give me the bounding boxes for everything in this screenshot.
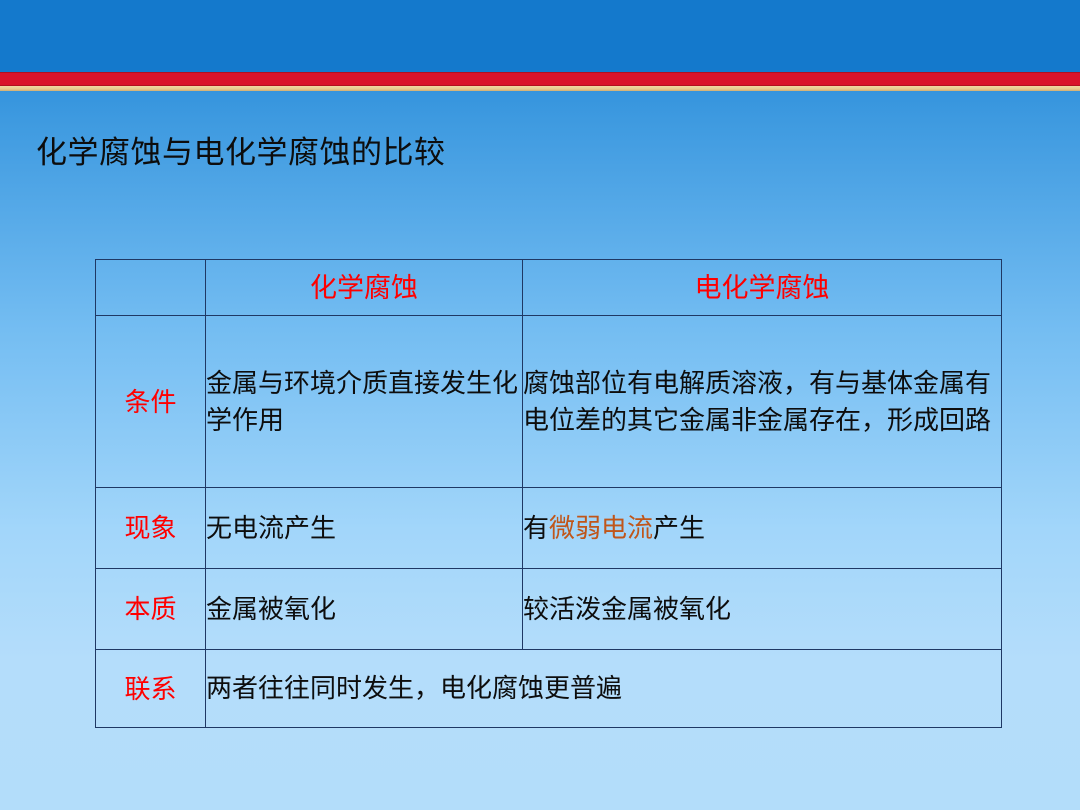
- table-header-chemical: 化学腐蚀: [206, 260, 523, 316]
- table-row: 条件 金属与环境介质直接发生化学作用 腐蚀部位有电解质溶液，有与基体金属有电位差…: [96, 316, 1002, 488]
- phenomenon-text-pre: 有: [523, 513, 549, 543]
- row-label-essence: 本质: [96, 569, 206, 650]
- table-header-row: 化学腐蚀 电化学腐蚀: [96, 260, 1002, 316]
- phenomenon-text-highlight: 微弱电流: [549, 513, 653, 543]
- table-row: 本质 金属被氧化 较活泼金属被氧化: [96, 569, 1002, 650]
- page-title: 化学腐蚀与电化学腐蚀的比较: [36, 133, 446, 173]
- row-label-condition: 条件: [96, 316, 206, 488]
- row-label-relation: 联系: [96, 650, 206, 728]
- cell-relation-merged: 两者往往同时发生，电化腐蚀更普遍: [206, 650, 1002, 728]
- cell-condition-electrochemical: 腐蚀部位有电解质溶液，有与基体金属有电位差的其它金属非金属存在，形成回路: [523, 316, 1002, 488]
- table-row: 联系 两者往往同时发生，电化腐蚀更普遍: [96, 650, 1002, 728]
- cell-essence-electrochemical: 较活泼金属被氧化: [523, 569, 1002, 650]
- table-row: 现象 无电流产生 有微弱电流产生: [96, 488, 1002, 569]
- top-banner-band: [0, 0, 1080, 72]
- cell-condition-chemical: 金属与环境介质直接发生化学作用: [206, 316, 523, 488]
- phenomenon-text-post: 产生: [653, 513, 705, 543]
- slide-canvas: 化学腐蚀与电化学腐蚀的比较 化学腐蚀 电化学腐蚀 条件 金属与环境介质直接发生化…: [0, 0, 1080, 810]
- table-header-corner: [96, 260, 206, 316]
- table-header-electrochemical: 电化学腐蚀: [523, 260, 1002, 316]
- cell-phenomenon-chemical: 无电流产生: [206, 488, 523, 569]
- banner-red-rule: [0, 72, 1080, 86]
- banner-gold-rule: [0, 86, 1080, 91]
- comparison-table: 化学腐蚀 电化学腐蚀 条件 金属与环境介质直接发生化学作用 腐蚀部位有电解质溶液…: [95, 259, 1002, 728]
- cell-essence-chemical: 金属被氧化: [206, 569, 523, 650]
- cell-phenomenon-electrochemical: 有微弱电流产生: [523, 488, 1002, 569]
- row-label-phenomenon: 现象: [96, 488, 206, 569]
